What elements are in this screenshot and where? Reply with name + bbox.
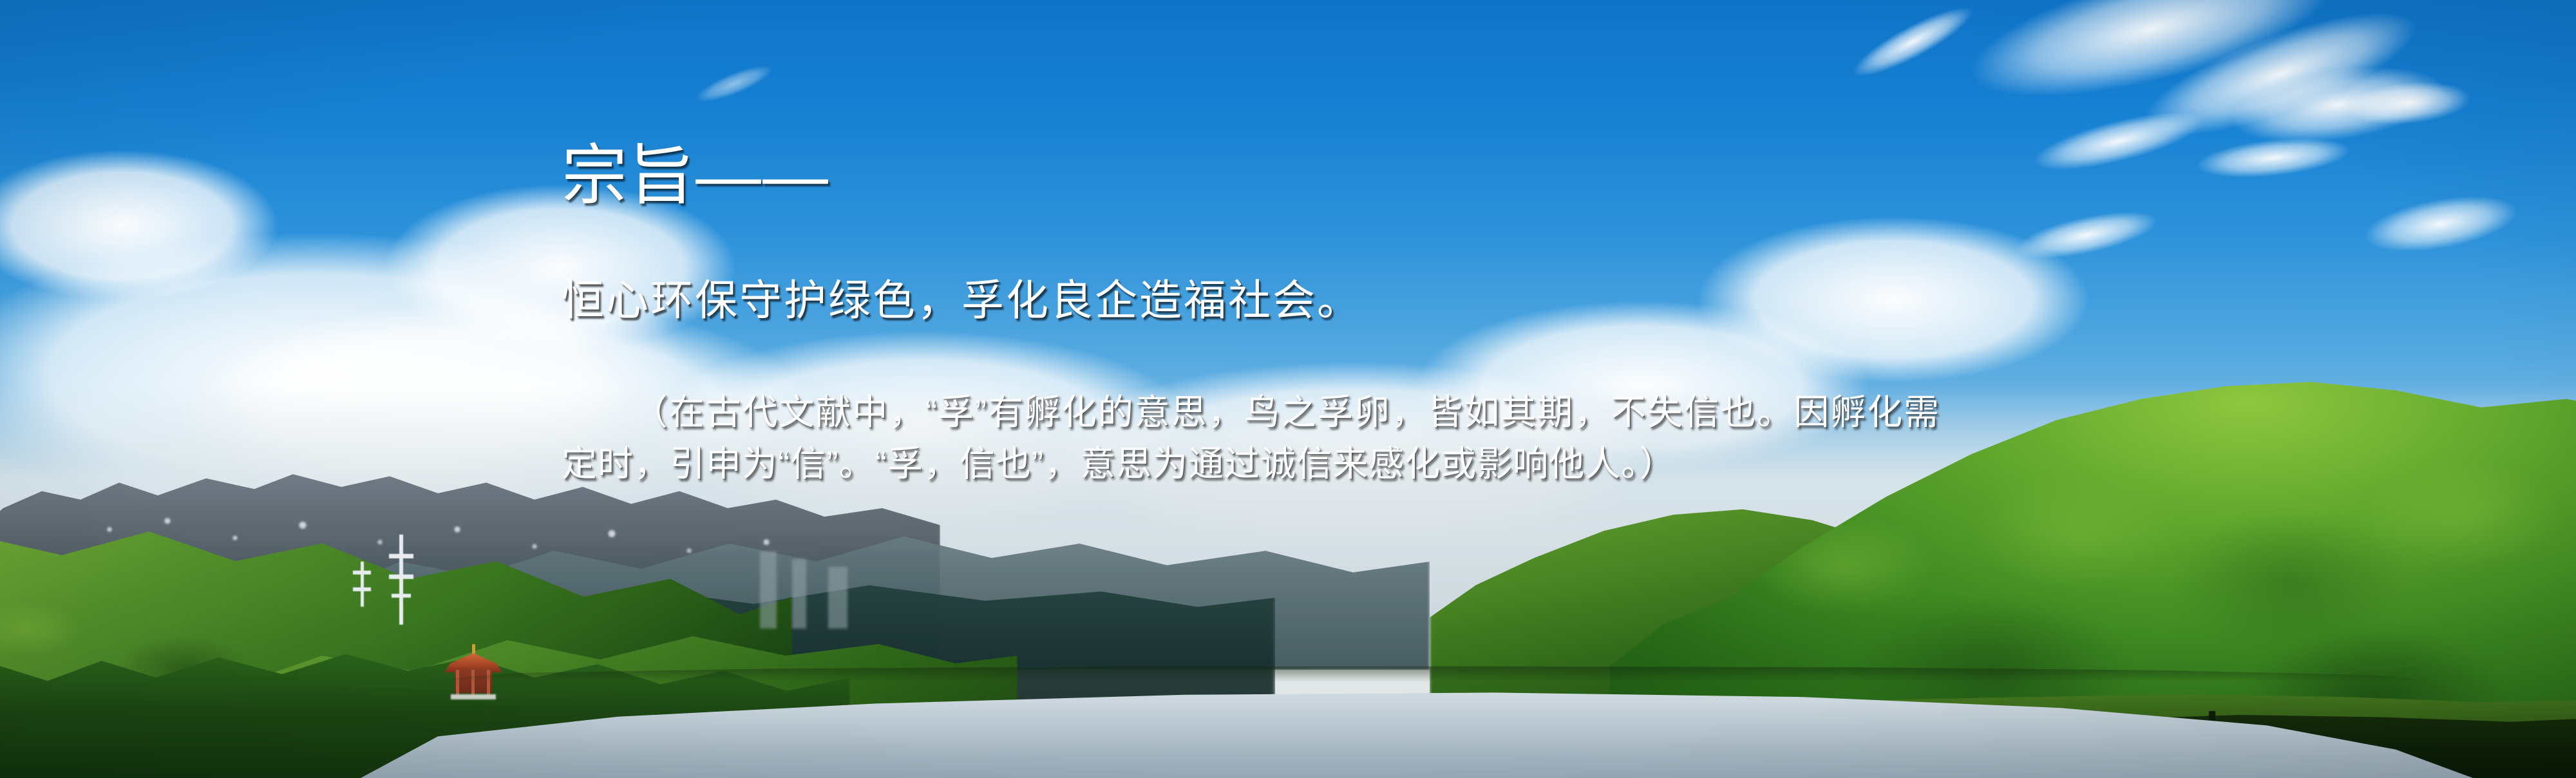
hero-banner: 宗旨—— 恒心环保守护绿色，孚化良企造福社会。 （在古代文献中，“孚”有孵化的意… [0, 0, 2576, 778]
banner-note: （在古代文献中，“孚”有孵化的意思，鸟之孚卵，皆如其期，不失信也。因孵化需定时，… [562, 386, 1940, 490]
banner-slogan: 恒心环保守护绿色，孚化良企造福社会。 [562, 277, 1361, 324]
banner-title: 宗旨—— [562, 142, 829, 211]
banner-text-layer: 宗旨—— 恒心环保守护绿色，孚化良企造福社会。 （在古代文献中，“孚”有孵化的意… [0, 0, 2576, 778]
